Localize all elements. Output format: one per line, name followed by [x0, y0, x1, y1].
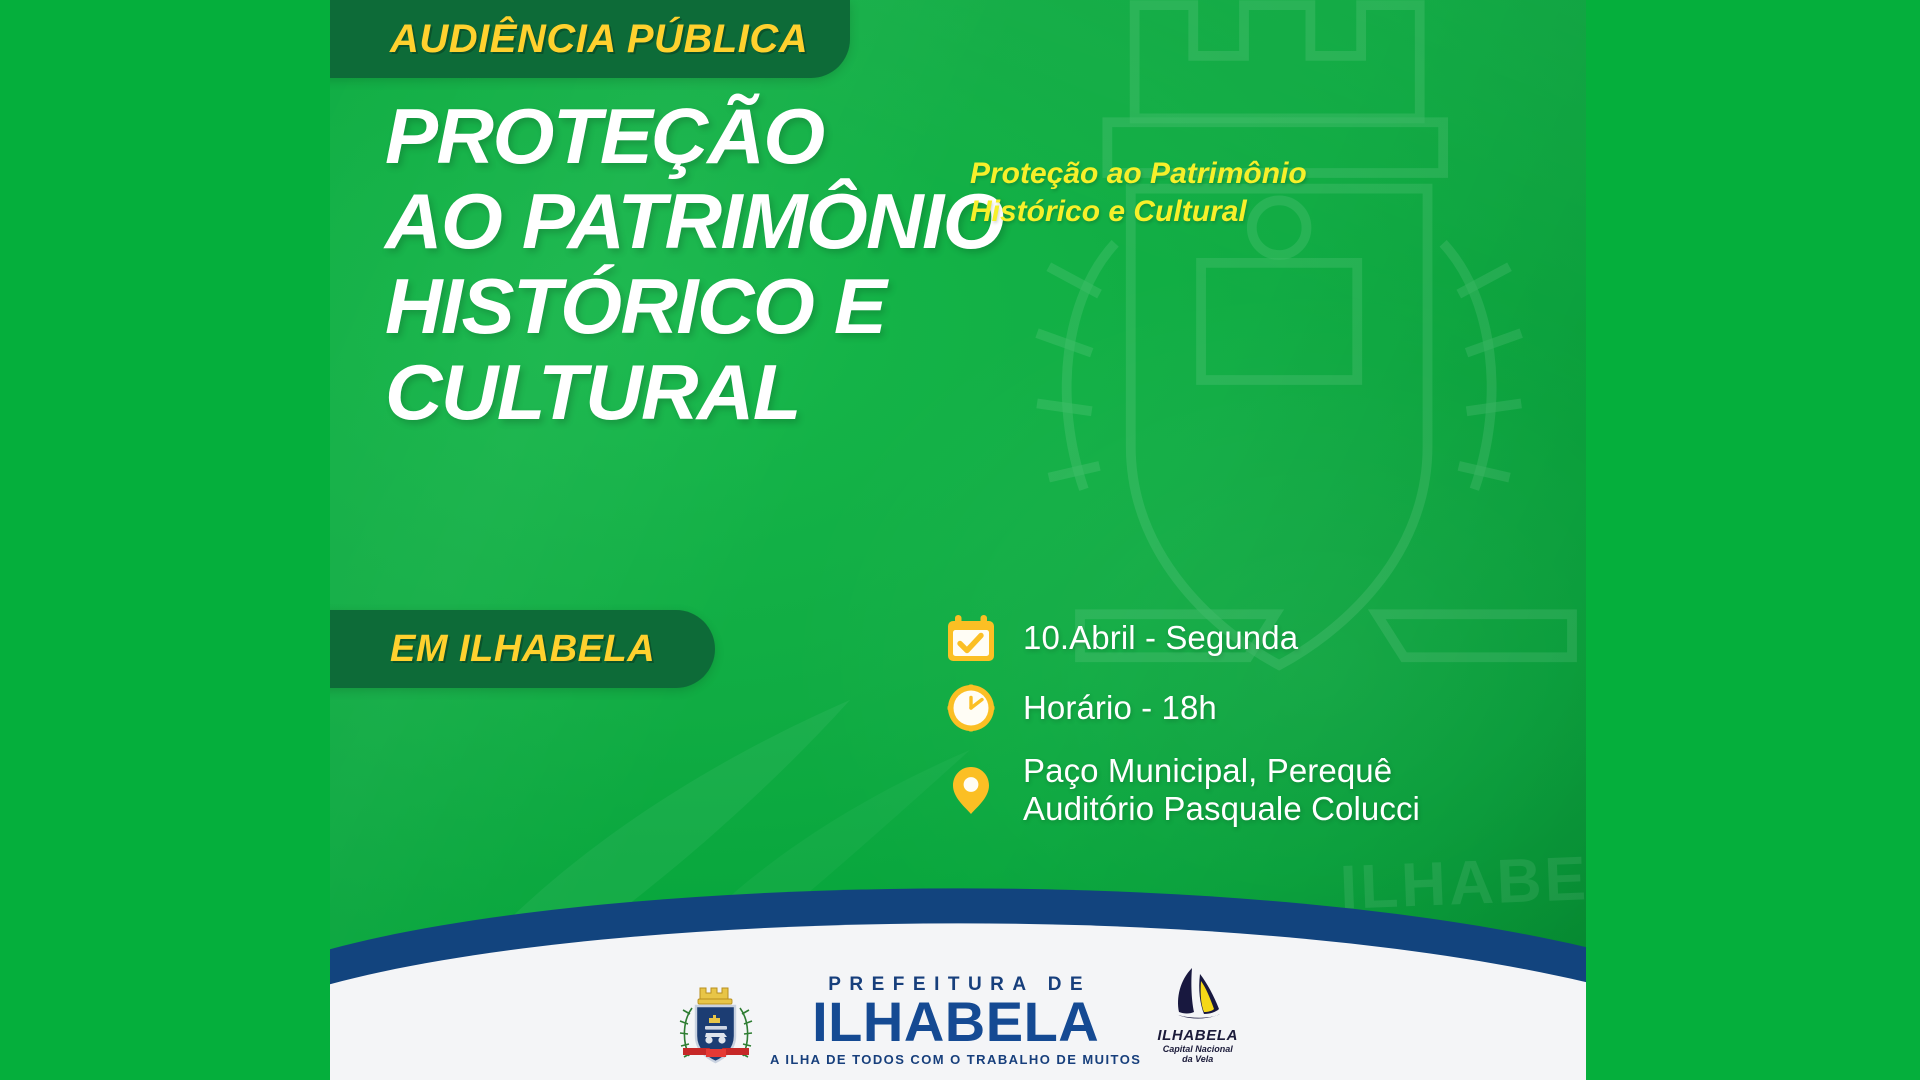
capital-da-vela-logo: ILHABELA Capital Nacional da Vela: [1157, 964, 1238, 1070]
poster-canvas: AUDIÊNCIA PÚBLICA PROTEÇÃO AO PATRIMÔNIO…: [0, 0, 1920, 1080]
event-detail-venue: Paço Municipal, Perequê Auditório Pasqua…: [945, 752, 1420, 827]
capital-da-vela-name: ILHABELA: [1157, 1028, 1238, 1044]
subtitle: Proteção ao Patrimônio Histórico e Cultu…: [970, 155, 1390, 232]
em-ilhabela-badge-label: EM ILHABELA: [390, 628, 655, 671]
event-detail-time-text: Horário - 18h: [1023, 689, 1217, 727]
headline-line-3: HISTÓRICO E: [385, 268, 1140, 345]
prefeitura-wordmark: PREFEITURA DE ILHABELA A ILHA DE TODOS C…: [770, 975, 1141, 1070]
poster-artboard: AUDIÊNCIA PÚBLICA PROTEÇÃO AO PATRIMÔNIO…: [330, 0, 1586, 1080]
map-pin-icon: [945, 764, 997, 816]
headline-line-4: CULTURAL: [385, 354, 1140, 431]
event-detail-date-text: 10.Abril - Segunda: [1023, 619, 1298, 657]
ilhabela-coat-of-arms-icon: [678, 978, 754, 1070]
subtitle-line-1: Proteção ao Patrimônio: [970, 155, 1390, 193]
prefeitura-tagline: A ILHA DE TODOS COM O TRABALHO DE MUITOS: [770, 1053, 1141, 1066]
event-detail-date: 10.Abril - Segunda: [945, 612, 1420, 664]
audiencia-publica-badge: AUDIÊNCIA PÚBLICA: [330, 0, 850, 78]
calendar-check-icon: [945, 612, 997, 664]
ilhabela-watermark-text: ILHABELA D: [1339, 837, 1586, 923]
subtitle-line-2: Histórico e Cultural: [970, 193, 1390, 231]
prefeitura-main: ILHABELA: [812, 995, 1099, 1049]
em-ilhabela-badge: EM ILHABELA: [330, 610, 715, 688]
footer-logo-lockup: PREFEITURA DE ILHABELA A ILHA DE TODOS C…: [330, 964, 1586, 1070]
event-details: 10.Abril - Segunda Horário - 18h: [945, 612, 1420, 827]
capital-da-vela-sub-2: da Vela: [1182, 1054, 1213, 1064]
clock-icon: [945, 682, 997, 734]
audiencia-publica-badge-label: AUDIÊNCIA PÚBLICA: [390, 17, 808, 62]
sailboat-icon: [1170, 964, 1226, 1026]
event-detail-time: Horário - 18h: [945, 682, 1420, 734]
capital-da-vela-sub-1: Capital Nacional: [1163, 1044, 1233, 1054]
page-title: PROTEÇÃO AO PATRIMÔNIO HISTÓRICO E CULTU…: [385, 98, 1125, 439]
event-detail-venue-text: Paço Municipal, Perequê Auditório Pasqua…: [1023, 752, 1420, 827]
